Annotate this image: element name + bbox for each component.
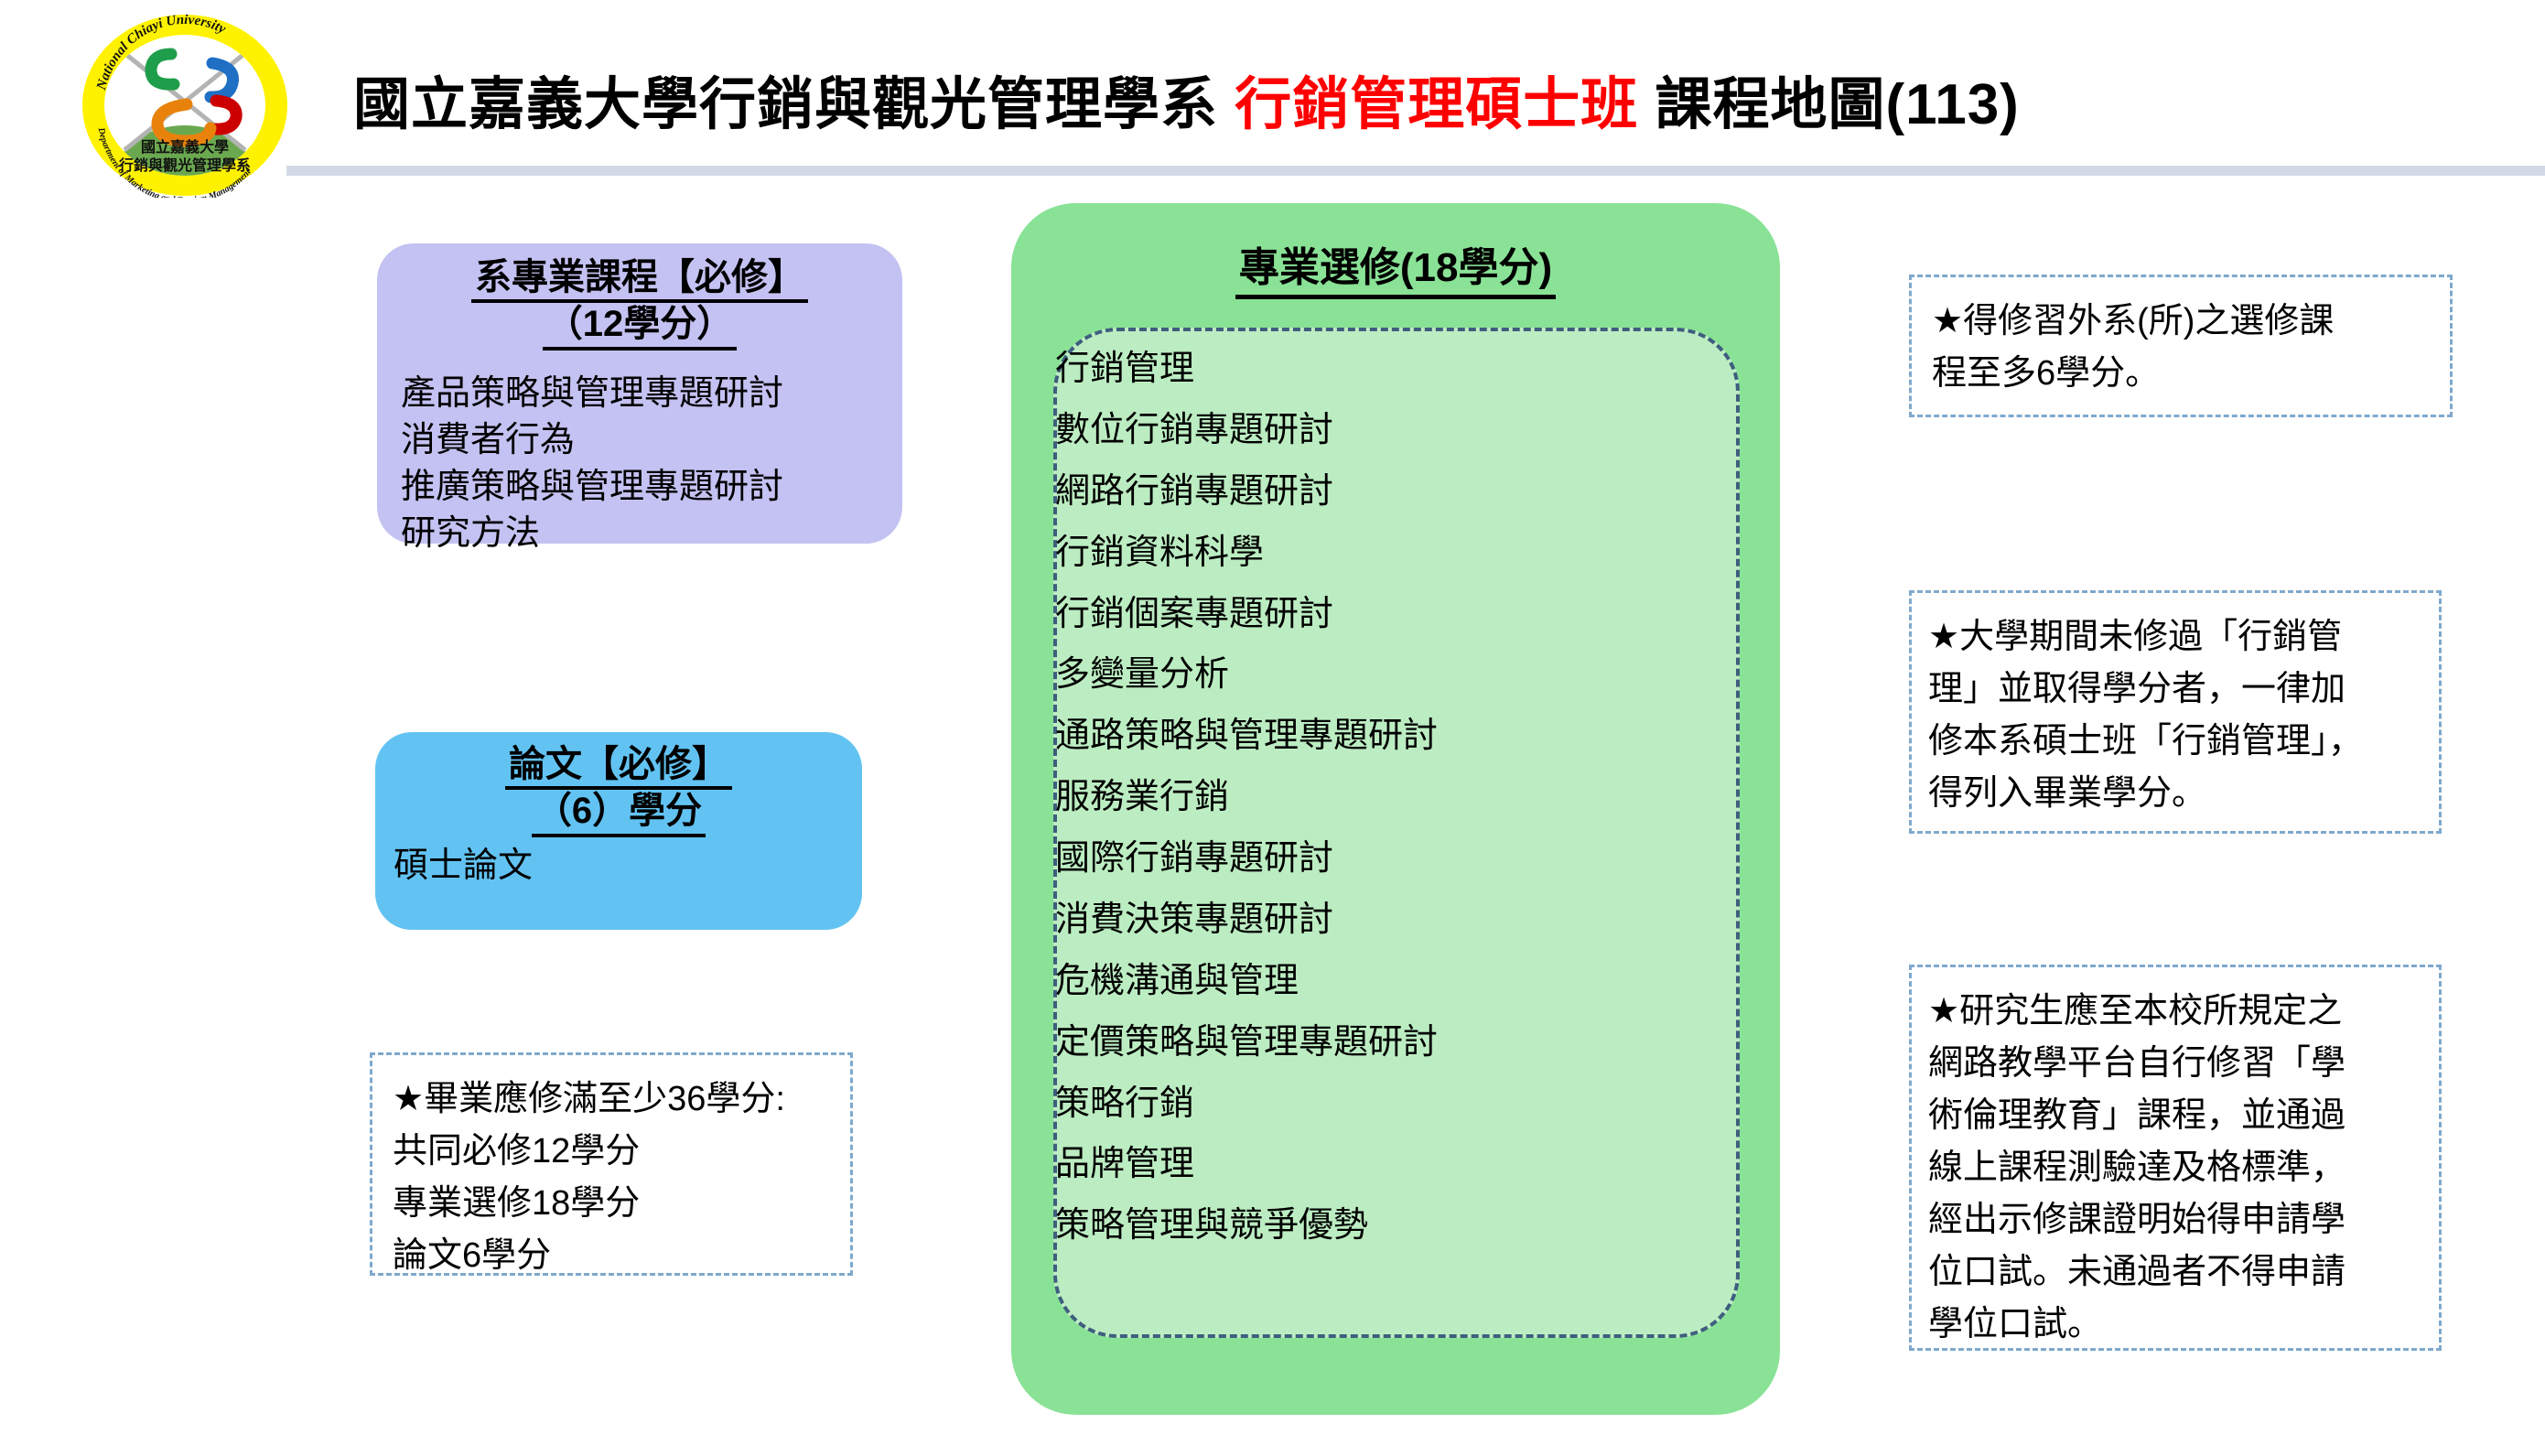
logo-center-line1: 國立嘉義大學 bbox=[141, 138, 229, 156]
list-item: 行銷個案專題研討 bbox=[1055, 584, 1687, 645]
header-divider bbox=[286, 166, 2545, 176]
thesis-heading-line1: 論文【必修】 bbox=[505, 743, 732, 790]
note-line: 專業選修18學分 bbox=[393, 1178, 850, 1230]
list-item: 行銷資料科學 bbox=[1055, 523, 1687, 584]
required-heading-line2: （12學分） bbox=[543, 303, 738, 350]
list-item: 通路策略與管理專題研討 bbox=[1055, 706, 1687, 767]
marketing-management-makeup-note: ★大學期間未修過「行銷管 理」並取得學分者，一律加 修本系碩士班「行銷管理」， … bbox=[1909, 590, 2442, 834]
thesis-course-list: 碩士論文 bbox=[375, 837, 862, 890]
list-item: 多變量分析 bbox=[1055, 644, 1687, 706]
note-line: 網路教學平台自行修習「學 bbox=[1928, 1038, 2439, 1090]
list-item: 消費者行為 bbox=[401, 417, 902, 464]
note-line: 共同必修12學分 bbox=[393, 1126, 850, 1178]
external-elective-note: ★得修習外系(所)之選修課 程至多6學分。 bbox=[1909, 275, 2453, 417]
list-item: 行銷管理 bbox=[1055, 339, 1687, 400]
list-item: 危機溝通與管理 bbox=[1055, 951, 1687, 1012]
note-line: 論文6學分 bbox=[393, 1230, 850, 1282]
elective-panel-title: 專業選修(18學分) bbox=[1011, 234, 1780, 299]
elective-title-text: 專業選修(18學分) bbox=[1235, 234, 1556, 299]
list-item: 消費決策專題研討 bbox=[1055, 890, 1687, 951]
page-header: National Chiayi University Department of… bbox=[0, 0, 2545, 183]
graduation-credits-note: ★畢業應修滿至少36學分: 共同必修12學分 專業選修18學分 論文6學分 bbox=[370, 1052, 853, 1276]
list-item: 研究方法 bbox=[401, 511, 902, 557]
note-line: ★大學期間未修過「行銷管 bbox=[1928, 611, 2439, 663]
required-courses-list: 產品策略與管理專題研討 消費者行為 推廣策略與管理專題研討 研究方法 bbox=[377, 351, 902, 557]
university-logo: National Chiayi University Department of… bbox=[79, 13, 291, 198]
list-item: 策略管理與競爭優勢 bbox=[1055, 1195, 1687, 1256]
list-item: 推廣策略與管理專題研討 bbox=[401, 464, 902, 511]
thesis-heading: 論文【必修】 （6）學分 bbox=[375, 732, 862, 837]
page-title: 國立嘉義大學行銷與觀光管理學系 行銷管理碩士班 課程地圖(113) bbox=[353, 75, 2020, 135]
note-line: 修本系碩士班「行銷管理」， bbox=[1928, 716, 2439, 768]
list-item: 服務業行銷 bbox=[1055, 767, 1687, 828]
list-item: 國際行銷專題研討 bbox=[1055, 828, 1687, 890]
note-line: 學位口試。 bbox=[1928, 1299, 2439, 1351]
elective-courses-panel: 專業選修(18學分) 行銷管理 數位行銷專題研討 網路行銷專題研討 行銷資料科學… bbox=[1011, 203, 1780, 1415]
list-item: 品牌管理 bbox=[1055, 1134, 1687, 1195]
note-line: ★得修習外系(所)之選修課 bbox=[1932, 296, 2450, 348]
title-tail: 課程地圖(113) bbox=[1655, 73, 2020, 136]
required-courses-card: 系專業課程【必修】 （12學分） 產品策略與管理專題研討 消費者行為 推廣策略與… bbox=[377, 243, 902, 544]
list-item: 碩士論文 bbox=[394, 843, 862, 890]
list-item: 策略行銷 bbox=[1055, 1073, 1687, 1135]
academic-ethics-note: ★研究生應至本校所規定之 網路教學平台自行修習「學 術倫理教育」課程，並通過 線… bbox=[1909, 965, 2442, 1351]
title-main: 國立嘉義大學行銷與觀光管理學系 bbox=[353, 73, 1218, 136]
note-line: 程至多6學分。 bbox=[1932, 348, 2450, 400]
note-line: 位口試。未通過者不得申請 bbox=[1928, 1246, 2439, 1299]
note-line: 線上課程測驗達及格標準， bbox=[1928, 1142, 2439, 1194]
thesis-card: 論文【必修】 （6）學分 碩士論文 bbox=[375, 732, 862, 930]
note-line: ★畢業應修滿至少36學分: bbox=[393, 1073, 850, 1126]
note-line: 得列入畢業學分。 bbox=[1928, 768, 2439, 820]
thesis-heading-line2: （6）學分 bbox=[532, 790, 706, 836]
elective-course-list: 行銷管理 數位行銷專題研討 網路行銷專題研討 行銷資料科學 行銷個案專題研討 多… bbox=[1055, 339, 1687, 1256]
list-item: 數位行銷專題研討 bbox=[1055, 400, 1687, 461]
title-highlight: 行銷管理碩士班 bbox=[1235, 73, 1638, 136]
required-heading-line1: 系專業課程【必修】 bbox=[471, 256, 808, 303]
logo-center-line2: 行銷與觀光管理學系 bbox=[118, 156, 251, 174]
list-item: 網路行銷專題研討 bbox=[1055, 461, 1687, 523]
note-line: 經出示修課證明始得申請學 bbox=[1928, 1194, 2439, 1246]
note-line: 理」並取得學分者，一律加 bbox=[1928, 663, 2439, 716]
note-line: ★研究生應至本校所規定之 bbox=[1928, 986, 2439, 1038]
required-courses-heading: 系專業課程【必修】 （12學分） bbox=[377, 243, 902, 351]
list-item: 產品策略與管理專題研討 bbox=[401, 371, 902, 417]
note-line: 術倫理教育」課程，並通過 bbox=[1928, 1090, 2439, 1142]
list-item: 定價策略與管理專題研討 bbox=[1055, 1012, 1687, 1073]
